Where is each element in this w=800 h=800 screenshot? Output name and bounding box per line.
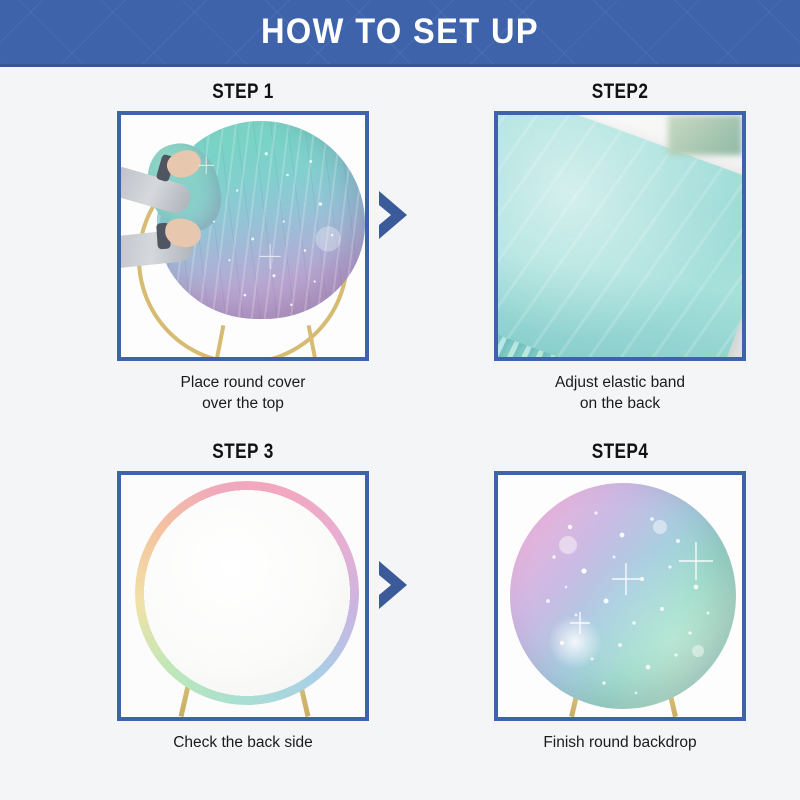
step-caption-1: Place round cover over the top	[78, 372, 408, 414]
sparkle-overlay-4	[510, 483, 736, 709]
step-caption-4-line1: Finish round backdrop	[455, 732, 785, 753]
background-blur-corner	[668, 115, 742, 155]
step-label-4: STEP4	[485, 439, 756, 467]
step-caption-1-line2: over the top	[78, 393, 408, 414]
finished-round-backdrop	[510, 483, 736, 709]
step-card-4: STEP4	[455, 439, 785, 753]
page-title: HOW TO SET UP	[28, 0, 772, 64]
step-caption-3: Check the back side	[78, 732, 408, 753]
step-image-1	[121, 115, 365, 357]
chevron-right-glyph-bottom	[373, 557, 413, 613]
stand-leg-left	[213, 325, 226, 361]
step-card-2: STEP2 Adjust elastic band on the back	[455, 79, 785, 414]
chevron-right-glyph-top	[373, 187, 413, 243]
step-card-3: STEP 3 Check the back side	[78, 439, 408, 753]
step-caption-2: Adjust elastic band on the back	[455, 372, 785, 414]
step-caption-4: Finish round backdrop	[455, 732, 785, 753]
stand-leg-right	[307, 325, 320, 361]
step-caption-3-line1: Check the back side	[78, 732, 408, 753]
step-image-3	[121, 475, 365, 717]
header-banner: HOW TO SET UP	[0, 0, 800, 67]
step-label-2: STEP2	[485, 79, 756, 107]
bokeh-glow	[548, 615, 602, 669]
step-card-1: STEP 1	[78, 79, 408, 414]
step-image-frame-1	[117, 111, 369, 361]
step-image-frame-2	[494, 111, 746, 361]
pastel-rainbow-rim	[135, 481, 359, 705]
step-label-3: STEP 3	[108, 439, 379, 467]
step-caption-2-line1: Adjust elastic band	[455, 372, 785, 393]
step-image-2	[498, 115, 742, 357]
chevron-right-icon-bottom	[373, 557, 413, 613]
step-caption-2-line2: on the back	[455, 393, 785, 414]
chevron-right-icon-top	[373, 187, 413, 243]
step-label-1: STEP 1	[108, 79, 379, 107]
step-image-frame-4	[494, 471, 746, 721]
step-image-4	[498, 475, 742, 717]
steps-grid: STEP 1	[0, 67, 800, 800]
step-caption-1-line1: Place round cover	[78, 372, 408, 393]
step-image-frame-3	[117, 471, 369, 721]
